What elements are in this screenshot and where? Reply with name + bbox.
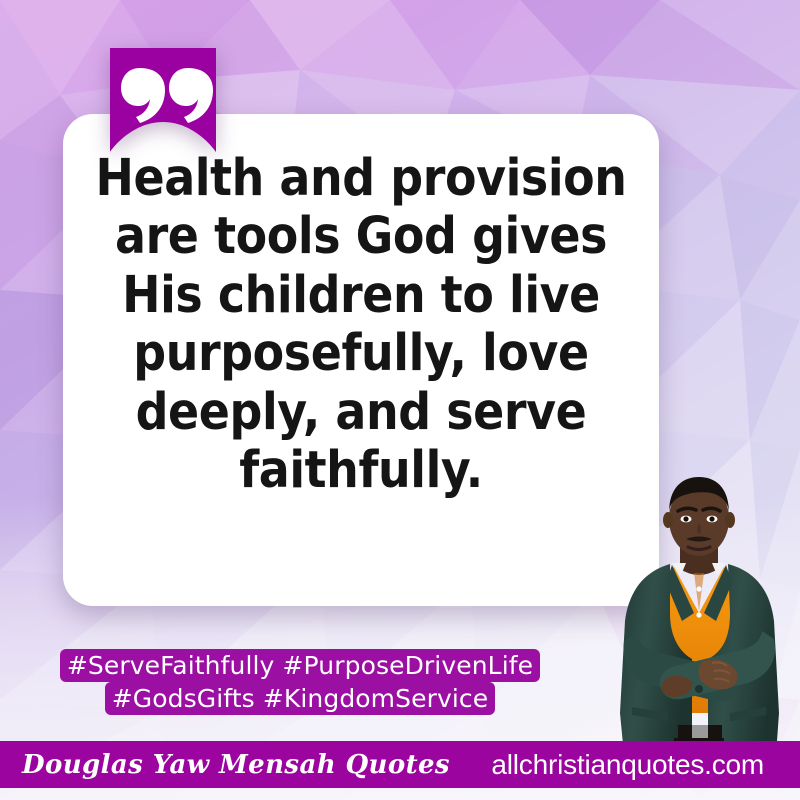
footer-bar: Douglas Yaw Mensah Quotes allchristianqu…	[0, 741, 800, 788]
author-portrait-photo	[608, 463, 790, 755]
hashtag-block: #ServeFaithfully #PurposeDrivenLife #God…	[40, 650, 560, 715]
quote-text: Health and provision are tools God gives…	[63, 150, 659, 500]
footer-website-url[interactable]: allchristianquotes.com	[491, 749, 778, 781]
footer-author-name: Douglas Yaw Mensah Quotes	[22, 750, 450, 780]
quote-mark-badge	[110, 48, 216, 152]
hashtag-line-1: #ServeFaithfully #PurposeDrivenLife	[40, 650, 560, 683]
hashtag-line-2: #GodsGifts #KingdomService	[40, 683, 560, 716]
quote-graphic-canvas: Health and provision are tools God gives…	[0, 0, 800, 800]
